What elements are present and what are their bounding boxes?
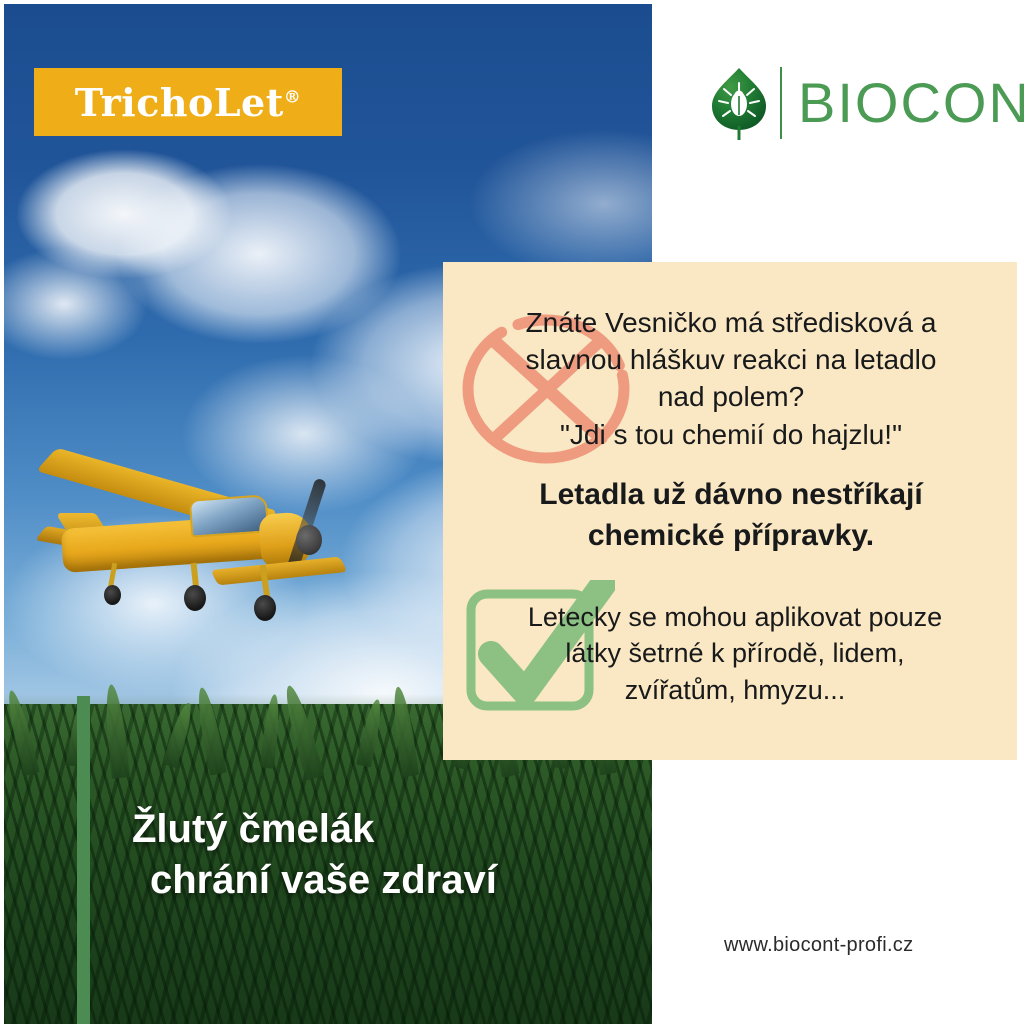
quote-line-2: slavnou hláškuv reakci na letadlo bbox=[471, 341, 991, 378]
approved-line-2: látky šetrné k přírodě, lidem, bbox=[479, 635, 991, 671]
poster-canvas: TrichoLet® Žlutý čmelák chrání vaše zdra… bbox=[0, 0, 1024, 1024]
approved-line-1: Letecky se mohou aplikovat pouze bbox=[479, 599, 991, 635]
logo-divider bbox=[780, 67, 782, 139]
plane-spinner bbox=[296, 525, 322, 555]
maize-leaf bbox=[162, 701, 196, 769]
approved-line-3: zvířatům, hmyzu... bbox=[479, 672, 991, 708]
tricholet-product-badge[interactable]: TrichoLet® bbox=[34, 68, 342, 136]
info-panel: Znáte Vesničko má středisková a slavnou … bbox=[443, 262, 1017, 760]
biocont-wordmark: BIOCONT bbox=[798, 75, 1024, 131]
poster-headline: Žlutý čmelák chrání vaše zdraví bbox=[132, 804, 602, 906]
approved-statement: Letecky se mohou aplikovat pouze látky š… bbox=[479, 599, 991, 708]
crop-duster-airplane-icon bbox=[14, 459, 344, 644]
plane-wheel-left bbox=[104, 585, 121, 605]
leaf-with-insect-icon bbox=[708, 66, 770, 140]
headline-line-1: Žlutý čmelák bbox=[132, 804, 602, 855]
tricholet-badge-label: TrichoLet® bbox=[75, 80, 302, 125]
quote-line-1: Znáte Vesničko má středisková a bbox=[471, 304, 991, 341]
bold-line-1: Letadla už dávno nestříkají bbox=[471, 475, 991, 516]
headline-line-2: chrání vaše zdraví bbox=[132, 855, 602, 906]
headline-accent-bar bbox=[77, 696, 90, 1024]
website-url[interactable]: www.biocont-profi.cz bbox=[724, 934, 913, 957]
maize-leaf bbox=[260, 694, 282, 769]
plane-wheel-right bbox=[254, 595, 276, 621]
bold-line-2: chemické přípravky. bbox=[471, 516, 991, 557]
bold-statement: Letadla už dávno nestříkají chemické pří… bbox=[471, 475, 991, 556]
quote-paragraph: Znáte Vesničko má středisková a slavnou … bbox=[471, 304, 991, 453]
quote-line-4: "Jdi s tou chemií do hajzlu!" bbox=[471, 416, 991, 453]
maize-leaf bbox=[356, 698, 385, 768]
biocont-logo[interactable]: BIOCONT bbox=[708, 62, 1024, 144]
quote-line-3: nad polem? bbox=[471, 378, 991, 415]
plane-cockpit-canopy bbox=[189, 494, 269, 537]
plane-wheel-center bbox=[184, 585, 206, 611]
